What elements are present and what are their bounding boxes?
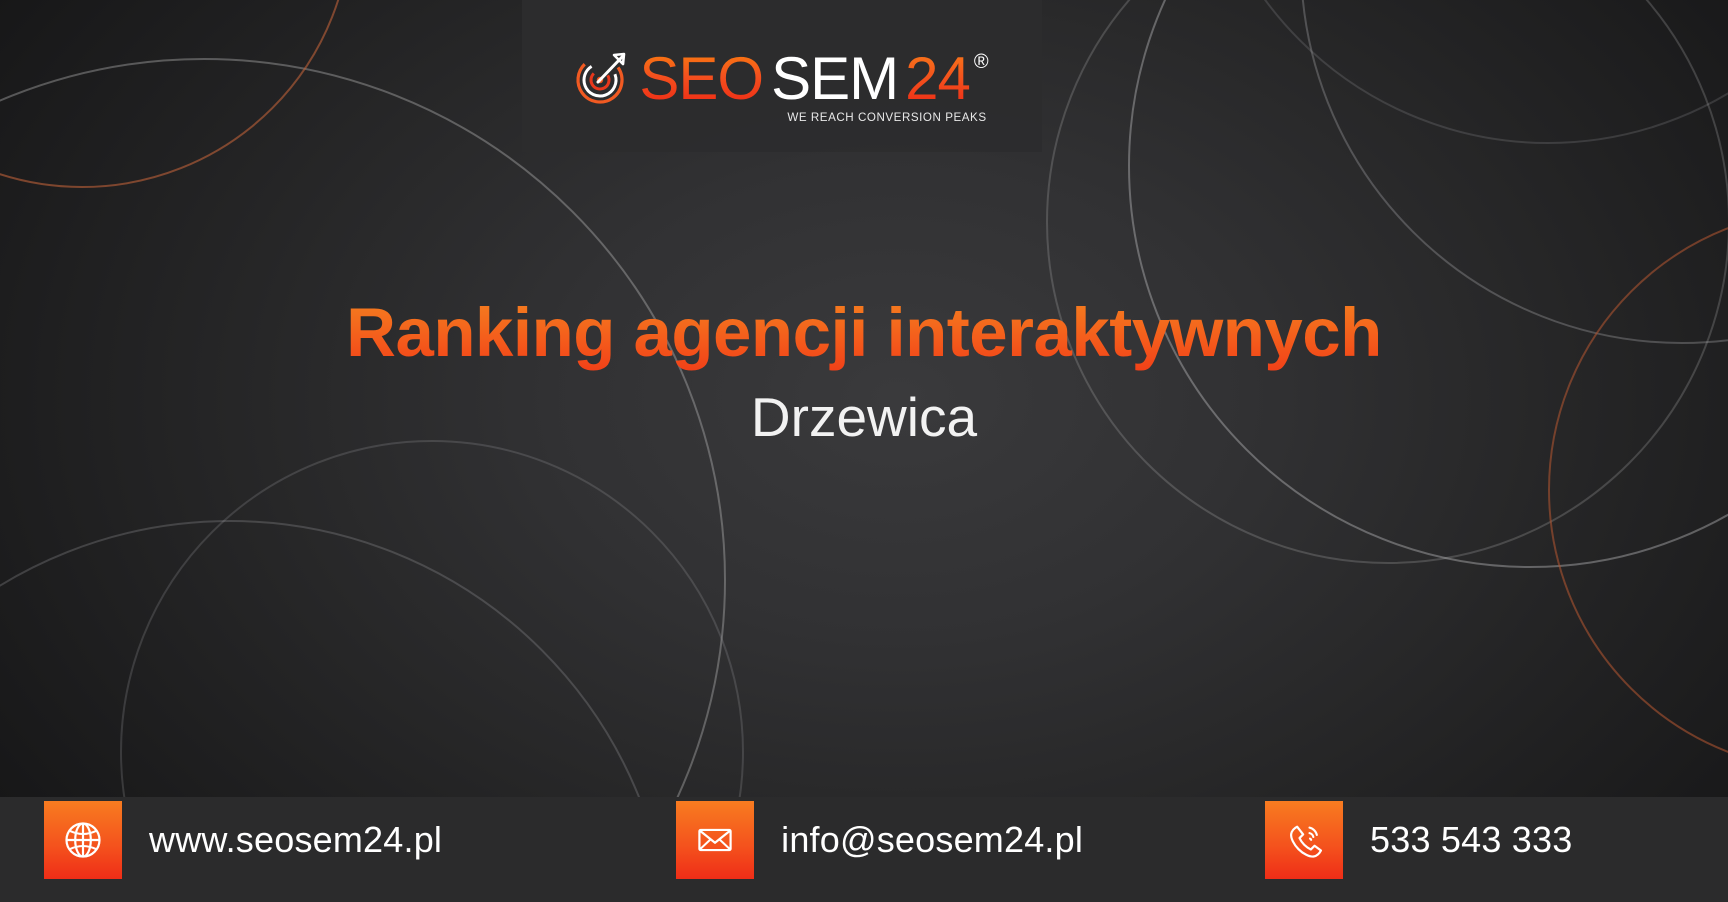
headline-block: Ranking agencji interaktywnych Drzewica [0, 296, 1728, 446]
logo-tagline: WE REACH CONVERSION PEAKS [787, 111, 986, 124]
decorative-circle-grey-5 [1300, 0, 1728, 344]
logo-word-seo: SEO [639, 50, 763, 107]
contact-item-phone[interactable]: 533 543 333 [1265, 780, 1572, 902]
decorative-circle-orange-1 [0, 0, 352, 188]
envelope-icon [676, 801, 754, 879]
registered-mark-icon: ® [974, 52, 989, 72]
contact-item-email[interactable]: info@seosem24.pl [676, 780, 1083, 902]
contact-label-website: www.seosem24.pl [149, 819, 442, 861]
decorative-circle-grey-1 [0, 58, 726, 902]
decorative-circle-grey-4 [1128, 0, 1728, 568]
logo-wordmark: SEO SEM 24 ® WE REACH CONVERSION PEAKS [639, 50, 988, 107]
slide-canvas: SEO SEM 24 ® WE REACH CONVERSION PEAKS R… [0, 0, 1728, 902]
page-title: Ranking agencji interaktywnych [0, 296, 1728, 371]
footer-contact-list: www.seosem24.pl info@seosem24.pl [0, 780, 1728, 902]
contact-item-website[interactable]: www.seosem24.pl [44, 780, 442, 902]
decorative-circle-grey-6 [1046, 0, 1728, 564]
decorative-circle-grey-7 [1196, 0, 1728, 144]
logo-word-24: 24 [905, 50, 970, 107]
globe-icon [44, 801, 122, 879]
contact-label-phone: 533 543 333 [1370, 819, 1572, 861]
target-arrow-icon [575, 51, 629, 105]
logo-word-sem: SEM [771, 50, 898, 107]
page-subtitle: Drzewica [0, 389, 1728, 447]
logo-lockup: SEO SEM 24 ® WE REACH CONVERSION PEAKS [575, 50, 988, 107]
contact-label-email: info@seosem24.pl [781, 819, 1083, 861]
decorative-circle-orange-2 [1548, 208, 1728, 772]
phone-icon [1265, 801, 1343, 879]
logo-panel: SEO SEM 24 ® WE REACH CONVERSION PEAKS [522, 0, 1042, 152]
